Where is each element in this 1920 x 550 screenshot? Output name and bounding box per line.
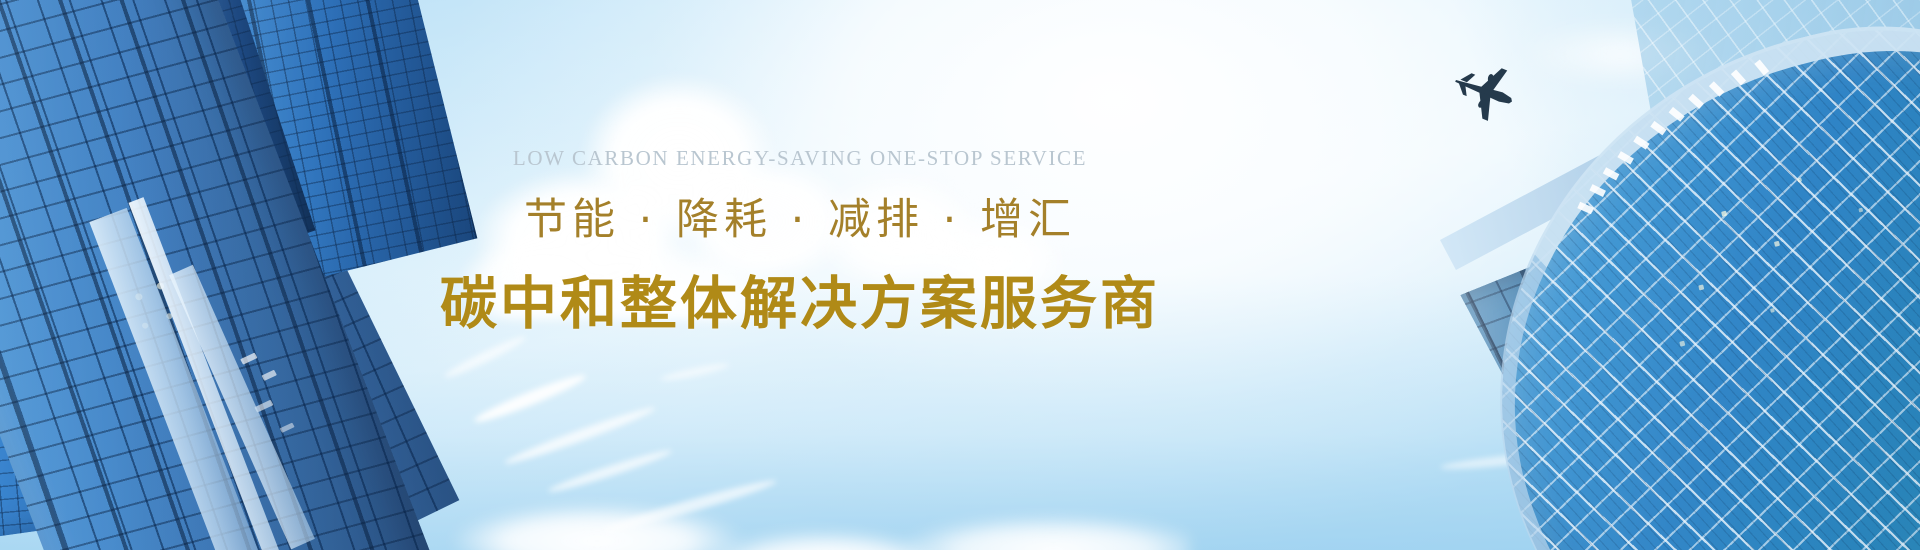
airplane-silhouette — [1446, 58, 1526, 124]
airplane-icon — [1446, 58, 1526, 124]
cloud-cumulus-right — [795, 110, 1095, 320]
hero-banner: LOW CARBON ENERGY-SAVING ONE-STOP SERVIC… — [0, 0, 1920, 550]
